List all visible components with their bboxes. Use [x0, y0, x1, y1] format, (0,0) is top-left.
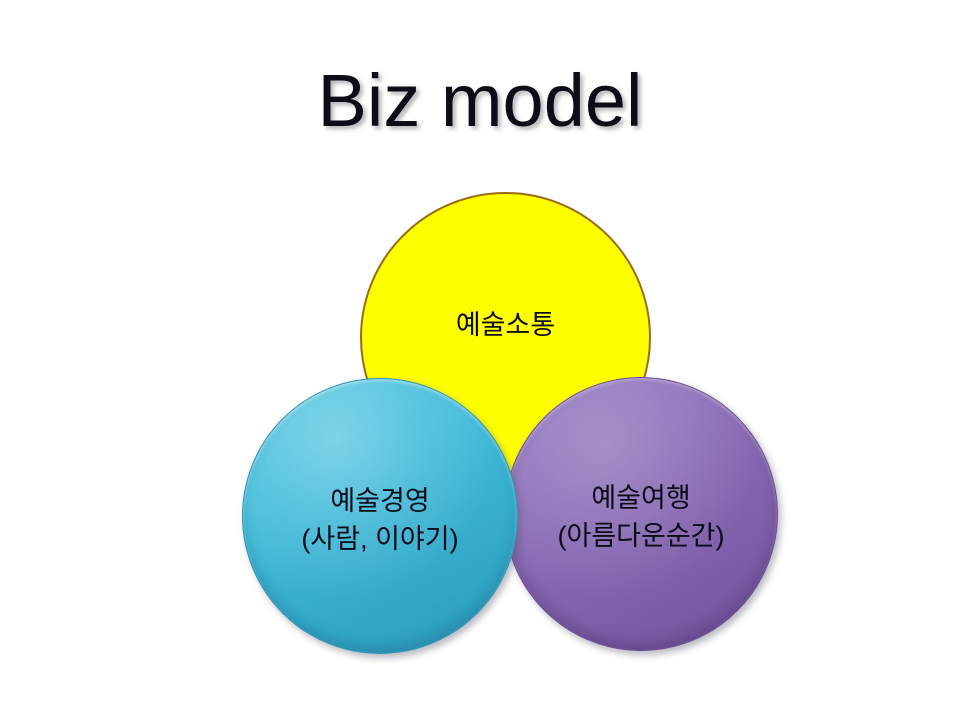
circle-label-line: 예술소통 [456, 306, 555, 344]
circle-label-line: (아름다운순간) [557, 517, 724, 555]
circle-label-line: 예술여행 [557, 479, 724, 517]
slide-canvas: Biz model 예술소통 예술여행 (아름다운순간) 예술경영 (사람, 이… [0, 0, 960, 720]
venn-circle-art-management[interactable]: 예술경영 (사람, 이야기) [242, 378, 518, 654]
page-title: Biz model [0, 58, 960, 144]
circle-label-group: 예술경영 (사람, 이야기) [301, 482, 458, 558]
circle-label-group: 예술소통 [456, 306, 555, 344]
circle-label-line: 예술경영 [301, 482, 458, 520]
circle-label-line: (사람, 이야기) [301, 520, 458, 558]
venn-circle-art-travel[interactable]: 예술여행 (아름다운순간) [504, 377, 778, 651]
circle-label-group: 예술여행 (아름다운순간) [557, 479, 724, 555]
